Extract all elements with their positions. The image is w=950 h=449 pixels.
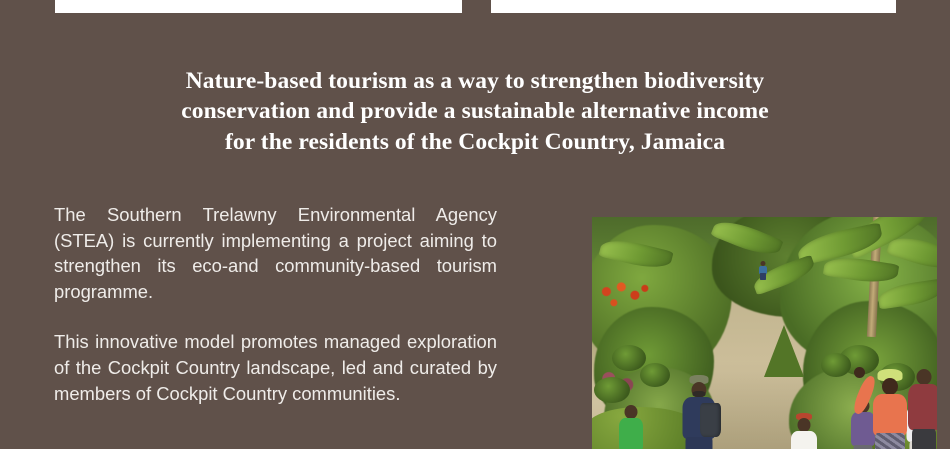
- person-navy-overalls-backpack: [676, 377, 722, 449]
- trimmed-bush-3: [594, 377, 630, 403]
- legs: [912, 429, 936, 449]
- red-flowering-shrub: [594, 279, 656, 315]
- torso: [873, 394, 907, 436]
- person-maroon-shirt: [907, 369, 937, 449]
- trimmed-bush-6: [821, 353, 851, 377]
- tour-group-photo: [592, 217, 937, 449]
- title-line-1: Nature-based tourism as a way to strengt…: [95, 66, 855, 97]
- trimmed-bush-1: [612, 345, 646, 371]
- top-panel-strip-left: [55, 0, 462, 13]
- page-title: Nature-based tourism as a way to strengt…: [95, 66, 855, 158]
- legs: [760, 273, 766, 280]
- body-text-column: The Southern Trelawny Environmental Agen…: [54, 202, 497, 406]
- torso: [619, 418, 643, 449]
- person-guide-orange-top: [870, 369, 910, 449]
- body-paragraph-1: The Southern Trelawny Environmental Agen…: [54, 202, 497, 304]
- head: [882, 378, 898, 395]
- torso: [908, 384, 937, 430]
- title-line-3: for the residents of the Cockpit Country…: [95, 127, 855, 158]
- torso: [791, 431, 817, 449]
- person-white-shirt: [790, 413, 818, 449]
- person-green-shirt: [618, 405, 644, 449]
- top-panel-strip-right: [491, 0, 896, 13]
- backpack-icon: [700, 403, 721, 437]
- poster-page: Nature-based tourism as a way to strengt…: [0, 0, 950, 433]
- trimmed-bush-2: [640, 363, 670, 387]
- head: [798, 418, 811, 432]
- body-paragraph-2: This innovative model promotes managed e…: [54, 329, 497, 406]
- conical-shrub: [764, 325, 804, 377]
- photo-scene: [592, 217, 937, 449]
- head: [625, 405, 638, 419]
- title-line-2: conservation and provide a sustainable a…: [95, 96, 855, 127]
- legs: [875, 433, 905, 449]
- person-distant-figure: [758, 261, 767, 279]
- raised-hand: [854, 367, 865, 378]
- head: [917, 369, 932, 385]
- legs: [686, 437, 713, 449]
